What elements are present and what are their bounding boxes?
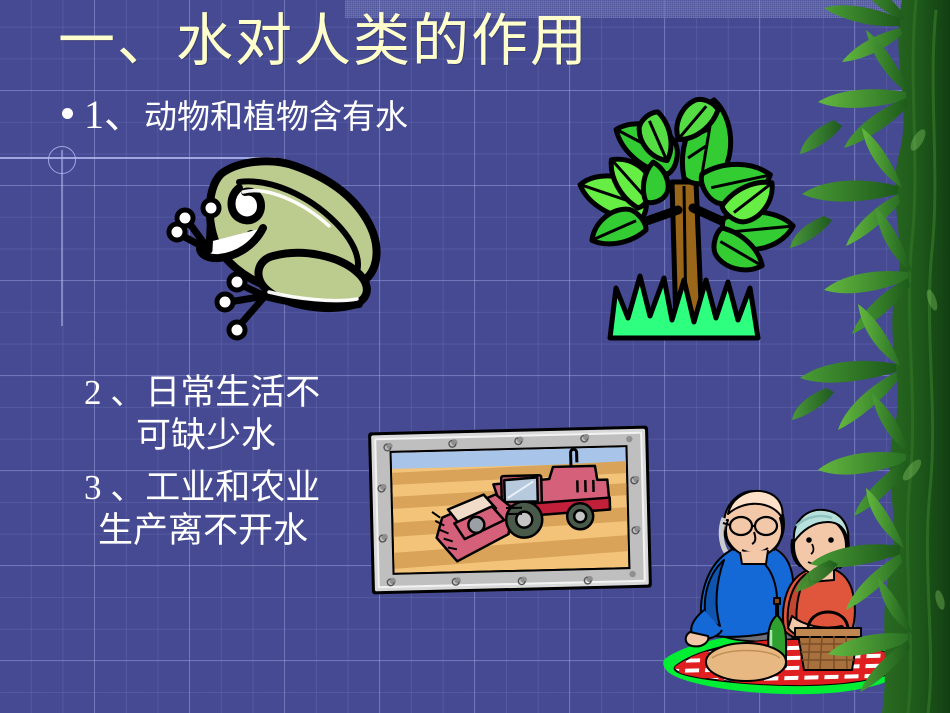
bamboo-foliage-photo — [790, 0, 950, 713]
bullet-item-1: 1、 动物和植物含有水 — [62, 95, 408, 135]
presentation-slide: 一、水对人类的作用 1、 动物和植物含有水 — [0, 0, 950, 713]
tree-illustration — [572, 82, 808, 348]
slide-title: 一、水对人类的作用 — [58, 12, 589, 72]
frog-illustration — [143, 152, 411, 348]
harvester-framed-photo — [364, 424, 656, 596]
point-2-line-1: 2 、日常生活不 — [84, 373, 320, 412]
bullet-label: 动物和植物含有水 — [144, 102, 408, 135]
accent-vertical-line — [61, 150, 63, 326]
bullet-number: 1、 — [84, 95, 144, 135]
slide-point-2: 2 、日常生活不 可缺少水 — [84, 372, 320, 457]
point-3-line-1: 3 、工业和农业 — [84, 468, 320, 507]
point-2-line-2: 可缺少水 — [84, 415, 320, 458]
point-3-line-2: 生产离不开水 — [84, 510, 320, 553]
bullet-dot-icon — [62, 108, 73, 119]
accent-circle-decoration — [48, 146, 76, 174]
slide-point-3: 3 、工业和农业 生产离不开水 — [84, 467, 320, 552]
